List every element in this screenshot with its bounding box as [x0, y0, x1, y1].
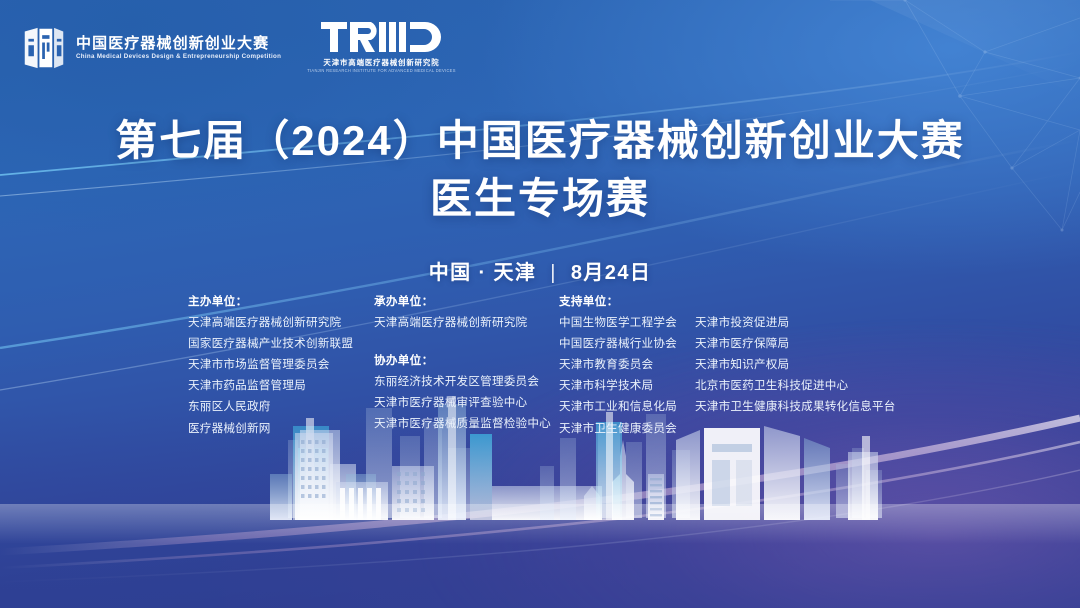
organizer-column-supporter-b: 天津市投资促进局 天津市医疗保障局 天津市知识产权局 北京市医药卫生科技促进中心…	[695, 291, 905, 417]
organizer-item: 北京市医药卫生科技促进中心	[695, 375, 905, 396]
title-block: 第七届（2024）中国医疗器械创新创业大赛 医生专场赛	[0, 116, 1080, 223]
group-heading: 支持单位：	[559, 291, 695, 312]
door-frame-logo-icon	[22, 26, 66, 70]
organizer-item: 天津高端医疗器械创新研究院	[374, 312, 559, 333]
event-title-line-1: 第七届（2024）中国医疗器械创新创业大赛	[0, 116, 1080, 166]
organizer-item: 天津市药品监督管理局	[188, 375, 374, 396]
triid-logo-cn: 天津市高端医疗器械创新研究院	[323, 59, 439, 66]
group-heading: 承办单位：	[374, 291, 559, 312]
event-location: 中国 · 天津	[429, 262, 537, 284]
competition-logo-cn: 中国医疗器械创新创业大赛	[76, 36, 281, 51]
triid-logo: 天津市高端医疗器械创新研究院 TIANJIN RESEARCH INSTITUT…	[307, 22, 455, 74]
organizer-item: 天津市卫生健康委员会	[559, 418, 695, 439]
organizer-item: 天津市医疗器械质量监督检验中心	[374, 413, 559, 434]
organizer-item: 天津市医疗器械审评查验中心	[374, 392, 559, 413]
organizer-item: 天津市工业和信息化局	[559, 396, 695, 417]
organizer-item: 天津市市场监督管理委员会	[188, 354, 374, 375]
organizer-item: 天津市卫生健康科技成果转化信息平台	[695, 396, 905, 417]
triid-wordmark-icon	[321, 22, 441, 56]
organizer-item: 医疗器械创新网	[188, 418, 374, 439]
subtitle-separator: |	[543, 262, 564, 285]
organizer-item: 天津高端医疗器械创新研究院	[188, 312, 374, 333]
event-title-line-2: 医生专场赛	[0, 174, 1080, 224]
organizer-item: 天津市教育委员会	[559, 354, 695, 375]
event-date: 8月24日	[571, 262, 651, 284]
organizer-item: 天津市知识产权局	[695, 354, 905, 375]
group-heading: 主办单位：	[188, 291, 374, 312]
organizer-item: 中国医疗器械行业协会	[559, 333, 695, 354]
competition-logo-en: China Medical Devices Design & Entrepren…	[76, 54, 281, 60]
organizer-item: 中国生物医学工程学会	[559, 312, 695, 333]
triid-logo-en: TIANJIN RESEARCH INSTITUTE FOR ADVANCED …	[307, 69, 455, 73]
organizer-column-undertaker: 承办单位： 天津高端医疗器械创新研究院 协办单位： 东丽经济技术开发区管理委员会…	[374, 291, 559, 435]
event-poster: 中国医疗器械创新创业大赛 China Medical Devices Desig…	[0, 0, 1080, 608]
organizer-item: 国家医疗器械产业技术创新联盟	[188, 333, 374, 354]
organizer-group: 支持单位： 中国生物医学工程学会 中国医疗器械行业协会 天津市教育委员会 天津市…	[559, 291, 695, 439]
organizer-item: 天津市医疗保障局	[695, 333, 905, 354]
header-logos: 中国医疗器械创新创业大赛 China Medical Devices Desig…	[22, 22, 456, 74]
organizer-group: 主办单位： 天津高端医疗器械创新研究院 国家医疗器械产业技术创新联盟 天津市市场…	[188, 291, 374, 439]
organizer-group: 承办单位： 天津高端医疗器械创新研究院	[374, 291, 559, 333]
group-heading: 协办单位：	[374, 350, 559, 371]
organizer-columns: 主办单位： 天津高端医疗器械创新研究院 国家医疗器械产业技术创新联盟 天津市市场…	[188, 291, 948, 439]
organizer-item: 东丽经济技术开发区管理委员会	[374, 371, 559, 392]
organizer-group: 天津市投资促进局 天津市医疗保障局 天津市知识产权局 北京市医药卫生科技促进中心…	[695, 312, 905, 417]
organizer-column-host: 主办单位： 天津高端医疗器械创新研究院 国家医疗器械产业技术创新联盟 天津市市场…	[188, 291, 374, 439]
organizer-item: 天津市投资促进局	[695, 312, 905, 333]
competition-logo: 中国医疗器械创新创业大赛 China Medical Devices Desig…	[22, 26, 281, 70]
event-subtitle: 中国 · 天津 | 8月24日	[0, 256, 1080, 285]
organizer-item: 天津市科学技术局	[559, 375, 695, 396]
organizer-group: 协办单位： 东丽经济技术开发区管理委员会 天津市医疗器械审评查验中心 天津市医疗…	[374, 350, 559, 434]
organizer-column-supporter-a: 支持单位： 中国生物医学工程学会 中国医疗器械行业协会 天津市教育委员会 天津市…	[559, 291, 695, 439]
organizer-item: 东丽区人民政府	[188, 396, 374, 417]
